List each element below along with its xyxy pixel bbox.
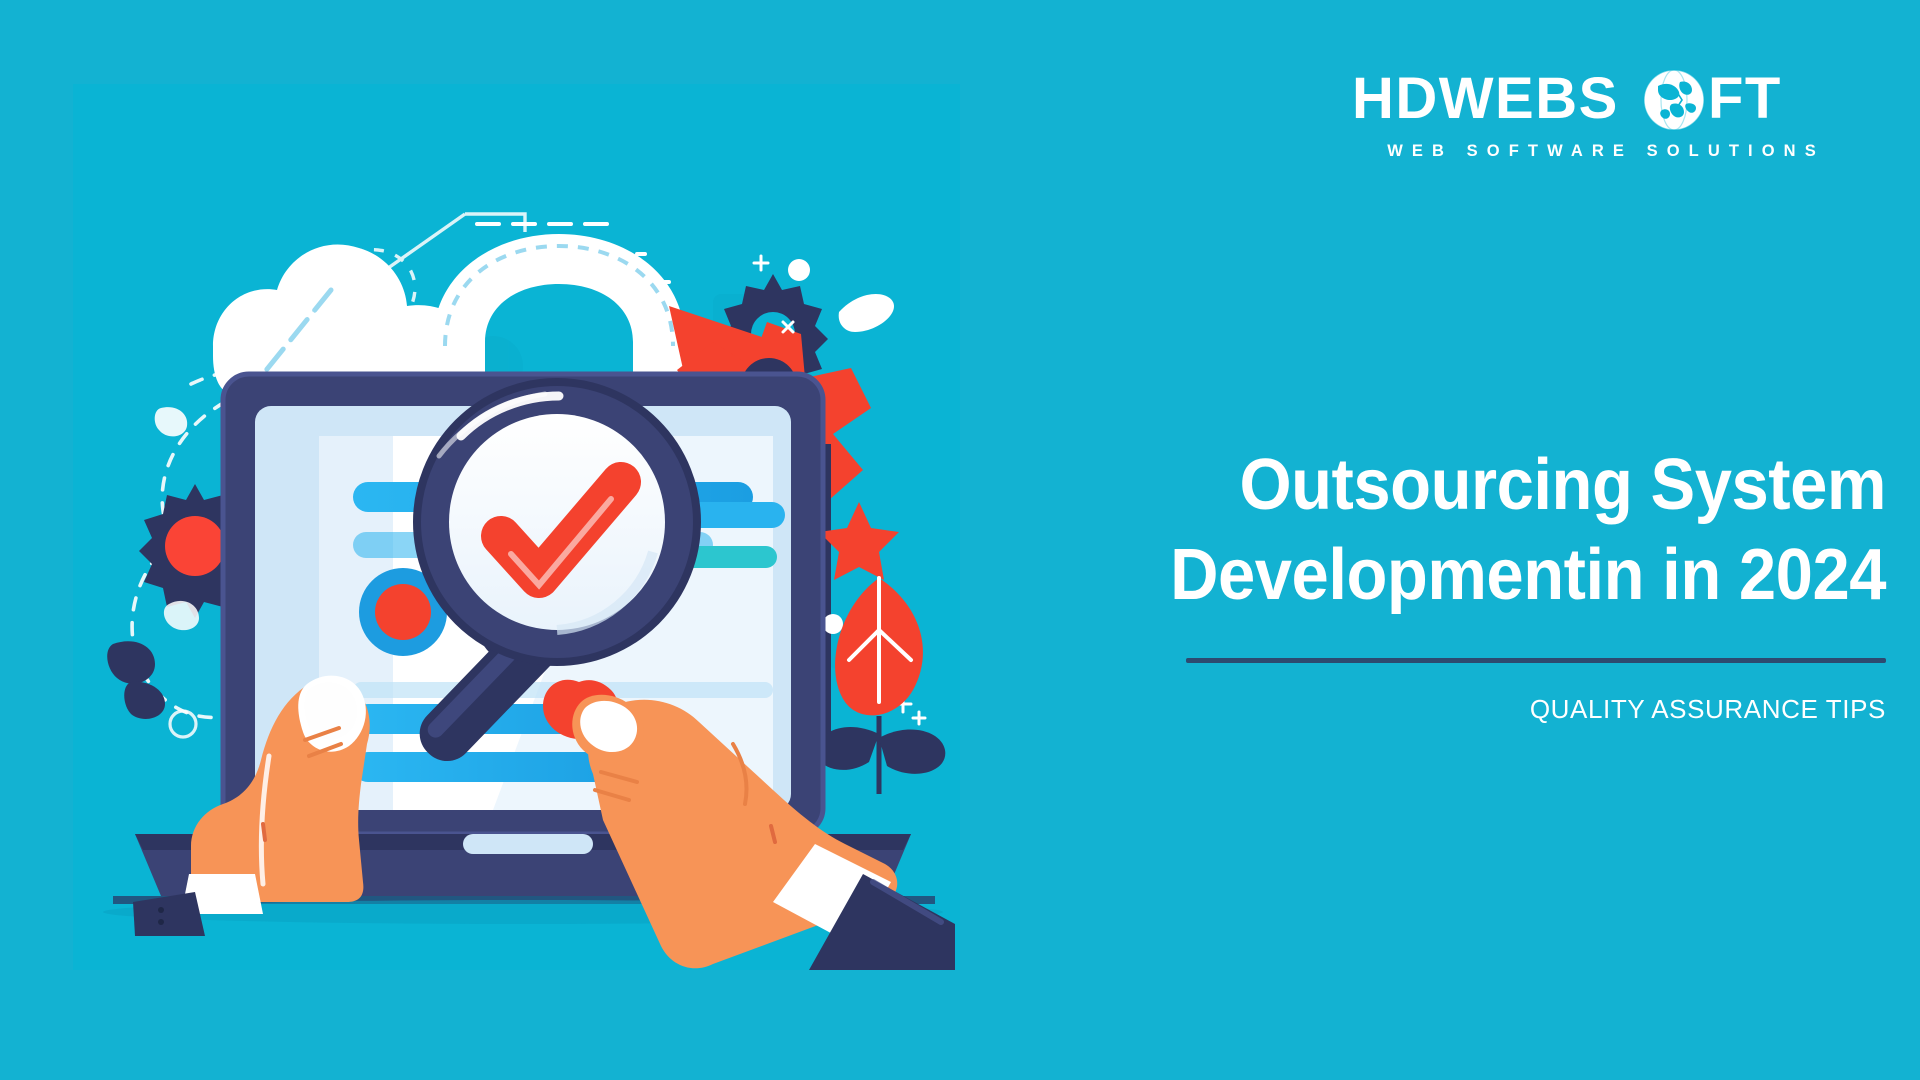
logo: HDWEBS FT WEB SOFTWARE SOLUTIONS [1352, 66, 1852, 176]
logo-wordmark: HDWEBS FT [1352, 66, 1852, 134]
page-title: Outsourcing System Developmentin in 2024 [1081, 440, 1886, 620]
headline-line-1: Outsourcing System [1081, 440, 1886, 530]
banner-root: HDWEBS FT WEB SOFTWARE SOLUTIONS [0, 0, 1920, 1080]
headline-line-2: Developmentin in 2024 [1081, 530, 1886, 620]
subtitle: QUALITY ASSURANCE TIPS [1020, 694, 1886, 725]
divider [1186, 658, 1886, 663]
logo-tagline: WEB SOFTWARE SOLUTIONS [1352, 142, 1852, 161]
text-column: Outsourcing System Developmentin in 2024… [1020, 440, 1886, 725]
illustration-panel [73, 84, 960, 970]
globe-icon [1644, 70, 1704, 130]
logo-text-hdwebs: HDWEBS [1352, 66, 1619, 131]
quality-assurance-illustration [73, 84, 960, 970]
logo-text-ft: FT [1708, 66, 1782, 131]
